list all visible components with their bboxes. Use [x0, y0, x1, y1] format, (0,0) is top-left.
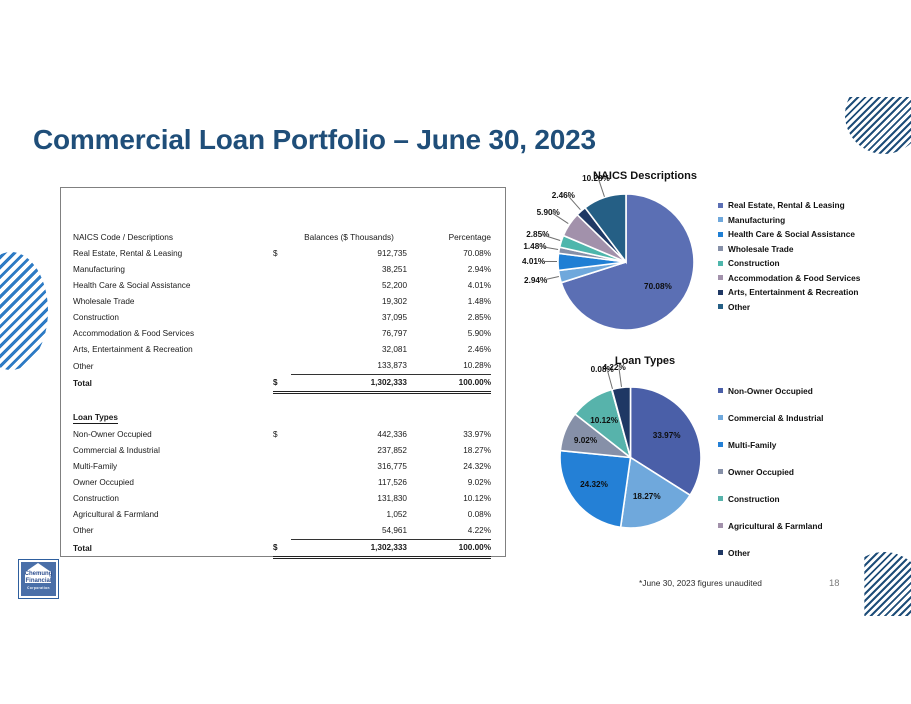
table-row: Manufacturing38,2512.94%	[73, 261, 491, 277]
naics-legend: Real Estate, Rental & LeasingManufacturi…	[718, 198, 860, 314]
row-balance: 131,830	[291, 490, 407, 506]
legend-item[interactable]: Manufacturing	[718, 213, 860, 228]
row-label: Non-Owner Occupied	[73, 426, 273, 442]
row-currency	[273, 490, 291, 506]
loan-types-subheader-label: Loan Types	[73, 413, 118, 424]
table-row: Non-Owner Occupied$442,33633.97%	[73, 426, 491, 442]
row-currency	[273, 358, 291, 375]
row-label: Accommodation & Food Services	[73, 326, 273, 342]
legend-swatch-icon	[718, 290, 723, 295]
row-balance: 76,797	[291, 326, 407, 342]
logo-line-2: Financial	[21, 578, 56, 584]
legend-item-label: Other	[728, 548, 750, 558]
leader-line	[538, 261, 557, 262]
naics-descriptions-pie-chart: NAICS Descriptions 70.08%2.94%4.01%1.48%…	[520, 170, 911, 345]
row-currency: $	[273, 245, 291, 261]
loan-pie-graphic	[558, 385, 703, 530]
commercial-loan-table: NAICS Code / Descriptions Balances ($ Th…	[73, 229, 491, 559]
row-label: Commercial & Industrial	[73, 442, 273, 458]
row-label: Wholesale Trade	[73, 293, 273, 309]
table-subheader-loan-types: Loan Types	[73, 401, 491, 426]
row-percentage: 4.01%	[407, 277, 491, 293]
row-label: Real Estate, Rental & Leasing	[73, 245, 273, 261]
row-balance: 37,095	[291, 309, 407, 325]
legend-swatch-icon	[718, 469, 723, 474]
total-balance: 1,302,333	[291, 539, 407, 557]
legend-item[interactable]: Other	[718, 539, 823, 566]
pie-value-label: 70.08%	[644, 282, 672, 291]
row-label: Arts, Entertainment & Recreation	[73, 342, 273, 358]
legend-swatch-icon	[718, 550, 723, 555]
chemung-financial-logo: Chemung Financial Corporation	[18, 559, 59, 599]
legend-item-label: Real Estate, Rental & Leasing	[728, 200, 845, 210]
table-body-naics: Real Estate, Rental & Leasing$912,73570.…	[73, 245, 491, 401]
row-percentage: 10.28%	[407, 358, 491, 375]
row-label: Construction	[73, 309, 273, 325]
row-balance: 38,251	[291, 261, 407, 277]
total-balance: 1,302,333	[291, 374, 407, 392]
legend-swatch-icon	[718, 415, 723, 420]
table-total-row-loan-types: Total$1,302,333100.00%	[73, 539, 491, 557]
table-header-row: NAICS Code / Descriptions Balances ($ Th…	[73, 229, 491, 245]
pie-value-label: 24.32%	[580, 480, 608, 489]
row-balance: 133,873	[291, 358, 407, 375]
total-currency: $	[273, 539, 291, 557]
pie-value-label: 2.94%	[524, 276, 547, 285]
legend-item[interactable]: Arts, Entertainment & Recreation	[718, 285, 860, 300]
table-row: Commercial & Industrial237,85218.27%	[73, 442, 491, 458]
legend-item-label: Non-Owner Occupied	[728, 386, 813, 396]
legend-swatch-icon	[718, 388, 723, 393]
legend-item-label: Other	[728, 302, 750, 312]
pie-value-label: 9.02%	[574, 436, 597, 445]
pie-value-label: 10.12%	[590, 416, 618, 425]
row-percentage: 4.22%	[407, 523, 491, 540]
loan-chart-title: Loan Types	[530, 355, 760, 367]
legend-item-label: Multi-Family	[728, 440, 776, 450]
row-label: Other	[73, 358, 273, 375]
row-currency	[273, 507, 291, 523]
table-header: NAICS Code / Descriptions Balances ($ Th…	[73, 229, 491, 245]
decorative-striped-circle-left	[0, 252, 48, 370]
legend-swatch-icon	[718, 275, 723, 280]
legend-item[interactable]: Real Estate, Rental & Leasing	[718, 198, 860, 213]
total-percentage: 100.00%	[407, 374, 491, 392]
row-currency: $	[273, 426, 291, 442]
row-percentage: 5.90%	[407, 326, 491, 342]
legend-item-label: Accommodation & Food Services	[728, 273, 860, 283]
total-label: Total	[73, 374, 273, 392]
decorative-striped-circle-top-right	[845, 76, 911, 154]
naics-pie-svg	[556, 192, 696, 332]
total-currency: $	[273, 374, 291, 392]
legend-swatch-icon	[718, 232, 723, 237]
legend-item[interactable]: Owner Occupied	[718, 458, 823, 485]
row-currency	[273, 523, 291, 540]
row-percentage: 24.32%	[407, 458, 491, 474]
row-balance: 1,052	[291, 507, 407, 523]
row-balance: 442,336	[291, 426, 407, 442]
row-percentage: 2.94%	[407, 261, 491, 277]
loan-types-pie-chart: Loan Types 33.97%18.27%24.32%9.02%10.12%…	[520, 355, 911, 570]
row-balance: 237,852	[291, 442, 407, 458]
legend-item[interactable]: Accommodation & Food Services	[718, 271, 860, 286]
naics-pie-graphic	[556, 192, 696, 332]
logo-line-3: Corporation	[21, 586, 56, 590]
pie-slice	[560, 451, 631, 528]
table-row: Construction37,0952.85%	[73, 309, 491, 325]
legend-item[interactable]: Agricultural & Farmland	[718, 512, 823, 539]
table-row: Other54,9614.22%	[73, 523, 491, 540]
naics-chart-title: NAICS Descriptions	[530, 170, 760, 182]
row-label: Multi-Family	[73, 458, 273, 474]
row-percentage: 2.46%	[407, 342, 491, 358]
legend-item-label: Owner Occupied	[728, 467, 794, 477]
row-balance: 912,735	[291, 245, 407, 261]
table-row: Other133,87310.28%	[73, 358, 491, 375]
row-label: Agricultural & Farmland	[73, 507, 273, 523]
legend-swatch-icon	[718, 496, 723, 501]
table-row: Real Estate, Rental & Leasing$912,73570.…	[73, 245, 491, 261]
table-row: Owner Occupied117,5269.02%	[73, 474, 491, 490]
legend-item[interactable]: Construction	[718, 485, 823, 512]
legend-item[interactable]: Health Care & Social Assistance	[718, 227, 860, 242]
table-row: Agricultural & Farmland1,0520.08%	[73, 507, 491, 523]
table-total-row-naics: Total$1,302,333100.00%	[73, 374, 491, 392]
legend-item[interactable]: Non-Owner Occupied	[718, 377, 823, 404]
table-row: Multi-Family316,77524.32%	[73, 458, 491, 474]
table-row: Accommodation & Food Services76,7975.90%	[73, 326, 491, 342]
row-percentage: 2.85%	[407, 309, 491, 325]
legend-item-label: Wholesale Trade	[728, 244, 793, 254]
row-percentage: 18.27%	[407, 442, 491, 458]
legend-item-label: Manufacturing	[728, 215, 785, 225]
legend-item[interactable]: Construction	[718, 256, 860, 271]
legend-item-label: Health Care & Social Assistance	[728, 229, 855, 239]
table-spacer	[73, 392, 491, 401]
legend-swatch-icon	[718, 304, 723, 309]
legend-item[interactable]: Commercial & Industrial	[718, 404, 823, 431]
row-balance: 32,081	[291, 342, 407, 358]
pie-value-label: 18.27%	[633, 492, 661, 501]
row-currency	[273, 326, 291, 342]
legend-item-label: Agricultural & Farmland	[728, 521, 823, 531]
legend-swatch-icon	[718, 442, 723, 447]
row-balance: 117,526	[291, 474, 407, 490]
row-currency	[273, 261, 291, 277]
row-currency	[273, 293, 291, 309]
page-number: 18	[829, 577, 839, 588]
row-currency	[273, 458, 291, 474]
row-currency	[273, 309, 291, 325]
logo-line-1: Chemung	[21, 571, 56, 577]
row-percentage: 0.08%	[407, 507, 491, 523]
pie-value-label: 10.28%	[582, 174, 610, 183]
loan-legend: Non-Owner OccupiedCommercial & Industria…	[718, 377, 823, 566]
page-title: Commercial Loan Portfolio – June 30, 202…	[33, 124, 596, 156]
row-balance: 52,200	[291, 277, 407, 293]
row-label: Owner Occupied	[73, 474, 273, 490]
legend-swatch-icon	[718, 217, 723, 222]
row-percentage: 70.08%	[407, 245, 491, 261]
legend-swatch-icon	[718, 246, 723, 251]
legend-item[interactable]: Other	[718, 300, 860, 315]
table-row: Construction131,83010.12%	[73, 490, 491, 506]
row-balance: 316,775	[291, 458, 407, 474]
loan-pie-svg	[558, 385, 703, 530]
logo-inner: Chemung Financial Corporation	[21, 562, 56, 596]
column-header-balances: Balances ($ Thousands)	[291, 229, 407, 245]
row-percentage: 33.97%	[407, 426, 491, 442]
pie-value-label: 33.97%	[653, 431, 681, 440]
column-header-percentage: Percentage	[407, 229, 491, 245]
legend-swatch-icon	[718, 203, 723, 208]
total-label: Total	[73, 539, 273, 557]
row-balance: 19,302	[291, 293, 407, 309]
row-label: Health Care & Social Assistance	[73, 277, 273, 293]
legend-item-label: Construction	[728, 494, 780, 504]
row-balance: 54,961	[291, 523, 407, 540]
row-percentage: 10.12%	[407, 490, 491, 506]
table-row: Wholesale Trade19,3021.48%	[73, 293, 491, 309]
table-row: Health Care & Social Assistance52,2004.0…	[73, 277, 491, 293]
pie-value-label: 4.22%	[603, 363, 626, 372]
row-currency	[273, 474, 291, 490]
total-percentage: 100.00%	[407, 539, 491, 557]
legend-item-label: Arts, Entertainment & Recreation	[728, 287, 858, 297]
row-percentage: 1.48%	[407, 293, 491, 309]
row-currency	[273, 277, 291, 293]
row-currency	[273, 442, 291, 458]
row-percentage: 9.02%	[407, 474, 491, 490]
table-body-loan-types: Loan Types Non-Owner Occupied$442,33633.…	[73, 401, 491, 557]
legend-item-label: Construction	[728, 258, 780, 268]
legend-item[interactable]: Multi-Family	[718, 431, 823, 458]
legend-item[interactable]: Wholesale Trade	[718, 242, 860, 257]
legend-item-label: Commercial & Industrial	[728, 413, 823, 423]
legend-swatch-icon	[718, 261, 723, 266]
financial-table-panel: NAICS Code / Descriptions Balances ($ Th…	[60, 187, 506, 557]
table-row: Arts, Entertainment & Recreation32,0812.…	[73, 342, 491, 358]
legend-swatch-icon	[718, 523, 723, 528]
row-label: Manufacturing	[73, 261, 273, 277]
row-label: Other	[73, 523, 273, 540]
row-currency	[273, 342, 291, 358]
row-label: Construction	[73, 490, 273, 506]
column-header-description: NAICS Code / Descriptions	[73, 229, 291, 245]
footnote: *June 30, 2023 figures unaudited	[639, 578, 762, 588]
